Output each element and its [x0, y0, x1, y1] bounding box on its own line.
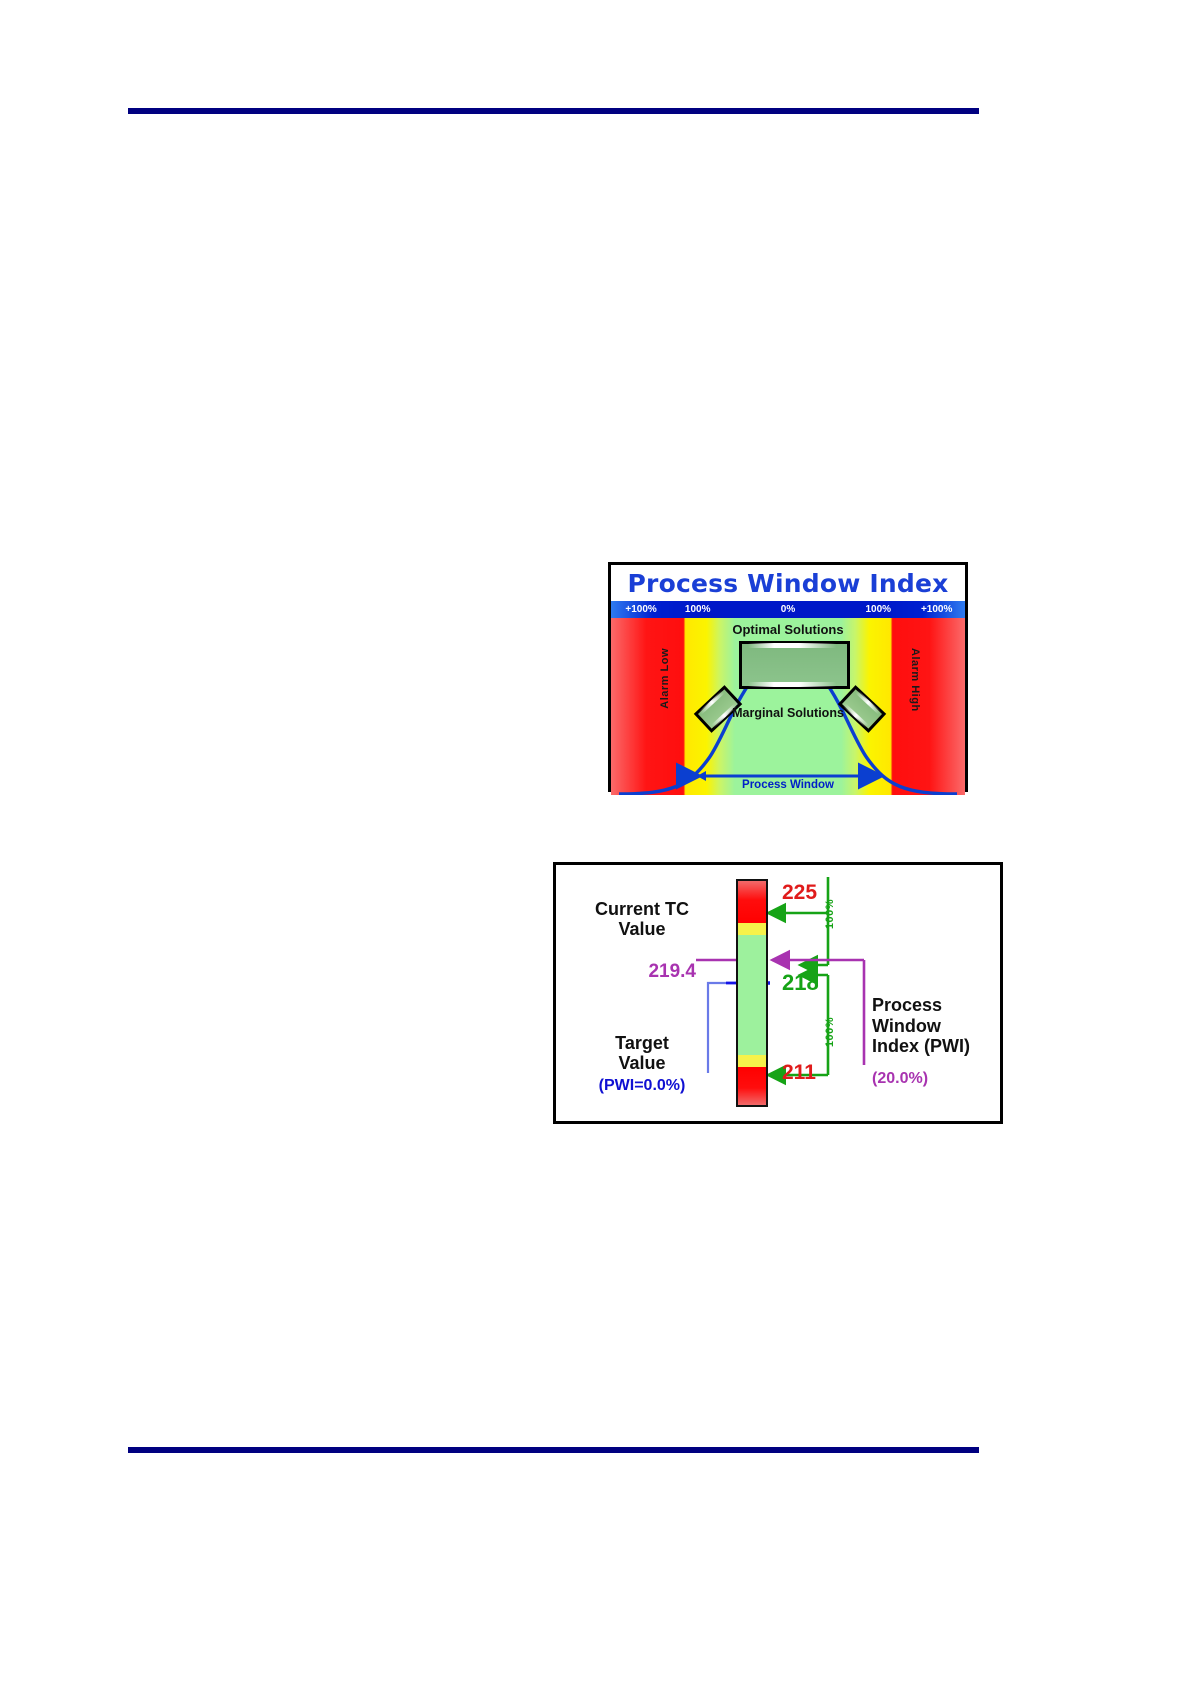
figure1-plot-area: Alarm Low Alarm High Optimal Solutions M… [611, 618, 965, 795]
current-tc-value-number: 219.4 [576, 961, 696, 982]
scale-label-left-plus100: +100% [625, 604, 656, 615]
pwi-bar-figure: Current TCValue 219.4 TargetValue (PWI=0… [553, 862, 1003, 1124]
process-window-index-figure: Process Window Index +100% 100% 0% 100% … [608, 562, 968, 792]
target-pwi-value: (PWI=0.0%) [566, 1077, 718, 1095]
scale-label-right-plus100: +100% [921, 604, 952, 615]
footer-rule [128, 1447, 979, 1453]
target-value-label: TargetValue [578, 1033, 706, 1073]
scale-label-right-100: 100% [865, 604, 891, 615]
header-rule [128, 108, 979, 114]
scale-label-zero: 0% [781, 604, 795, 615]
marginal-solutions-label: Marginal Solutions [611, 706, 965, 720]
bar-segment-alarm-high [738, 881, 766, 923]
figure1-scale-bar: +100% 100% 0% 100% +100% [611, 601, 965, 618]
upper-limit-value: 225 [782, 881, 817, 905]
alarm-high-label: Alarm High [909, 648, 921, 712]
optimal-solutions-box [739, 641, 850, 689]
pwi-value-label: (20.0%) [872, 1070, 996, 1088]
lower-limit-value: 211 [782, 1061, 816, 1085]
target-limit-value: 218 [782, 971, 819, 996]
document-page: Process Window Index +100% 100% 0% 100% … [0, 0, 1191, 1685]
span-label-lower: 100% [824, 1017, 836, 1047]
scale-label-left-100: 100% [685, 604, 711, 615]
bar-segment-warning-high [738, 923, 766, 935]
process-window-label: Process Window [611, 779, 965, 791]
pwi-temperature-bar [736, 879, 768, 1107]
pwi-title-label: ProcessWindowIndex (PWI) [872, 995, 996, 1057]
bar-segment-alarm-low [738, 1067, 766, 1105]
alarm-low-label: Alarm Low [659, 648, 671, 709]
optimal-solutions-label: Optimal Solutions [611, 622, 965, 637]
figure1-title: Process Window Index [611, 565, 965, 601]
current-tc-value-label: Current TCValue [578, 899, 706, 939]
bar-segment-in-window [738, 935, 766, 1055]
span-label-upper: 100% [824, 899, 836, 929]
bar-segment-warning-low [738, 1055, 766, 1067]
